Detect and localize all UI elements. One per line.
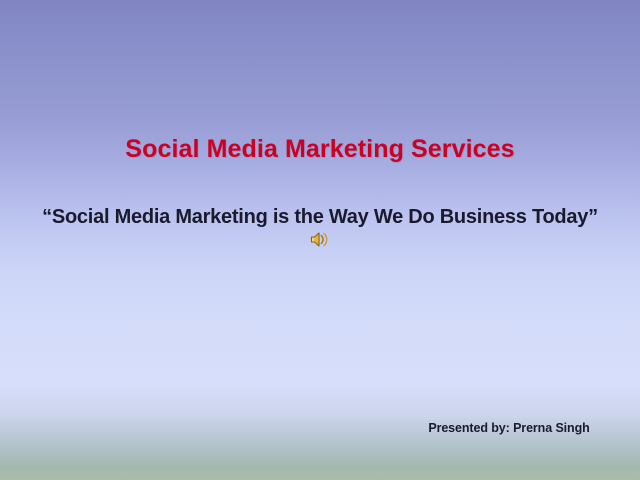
page-title: Social Media Marketing Services [125,136,514,164]
speaker-sound-icon[interactable] [309,230,331,249]
presentation-slide: Social Media Marketing Services “Social … [0,0,640,480]
sound-icon-container [0,230,640,254]
subtitle-container: “Social Media Marketing is the Way We Do… [0,206,640,229]
title-container: Social Media Marketing Services [0,136,640,164]
presenter-credit: Presented by: Prerna Singh [428,421,589,435]
presenter-container: Presented by: Prerna Singh [0,419,640,437]
slide-subtitle: “Social Media Marketing is the Way We Do… [42,206,598,229]
